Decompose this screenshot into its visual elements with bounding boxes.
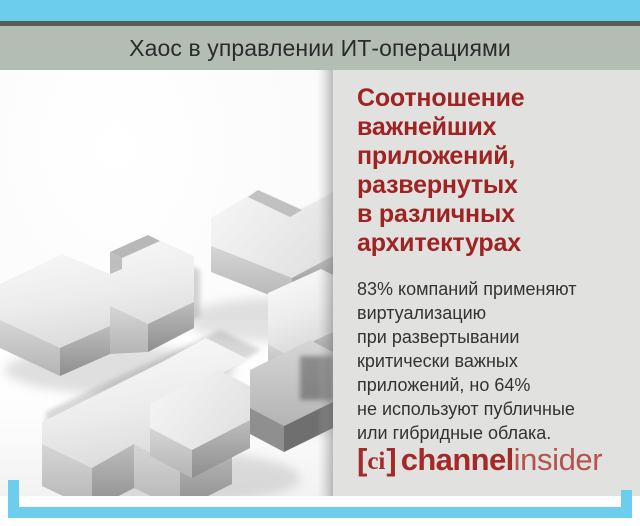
hero-image — [0, 70, 333, 496]
panel-body-line: при развертывании — [357, 325, 624, 349]
text-panel: Соотношение важнейших приложений, развер… — [333, 70, 640, 496]
bottom-white-gap — [0, 518, 640, 526]
panel-body-line: критически важных — [357, 349, 624, 373]
panel-heading-line: архитектурах — [357, 229, 624, 258]
panel-heading-line: развернутых — [357, 171, 624, 200]
panel-body-line: приложений, но 64% — [357, 373, 624, 397]
bottom-blue-frame — [8, 507, 632, 518]
header-bar: Хаос в управлении ИТ-операциями — [0, 26, 640, 70]
arrows-illustration — [0, 70, 333, 496]
top-blue-band — [0, 0, 640, 21]
channelinsider-logo: [ ci ] channel insider — [357, 444, 602, 478]
panel-body-line: виртуализацию — [357, 301, 624, 325]
panel-body-text: 83% компаний применяют виртуализацию при… — [357, 277, 624, 445]
panel-heading-line: важнейших — [357, 113, 624, 142]
logo-word-channel: channel — [396, 444, 514, 475]
right-blue-frame — [621, 490, 632, 518]
logo-bracket-open: [ — [357, 444, 366, 475]
logo-bracket-close: ] — [386, 444, 395, 475]
panel-body-line: не используют публичные — [357, 397, 624, 421]
left-blue-frame — [8, 480, 19, 518]
page-title: Хаос в управлении ИТ-операциями — [129, 35, 511, 61]
panel-heading-line: в различных — [357, 200, 624, 229]
logo-word-insider: insider — [514, 444, 603, 475]
logo-ci-mark: ci — [366, 446, 386, 477]
panel-heading: Соотношение важнейших приложений, развер… — [357, 84, 624, 258]
panel-heading-line: Соотношение — [357, 84, 624, 113]
infographic-slide: Хаос в управлении ИТ-операциями — [0, 0, 640, 526]
panel-body-line: 83% компаний применяют — [357, 277, 624, 301]
panel-heading-line: приложений, — [357, 142, 624, 171]
